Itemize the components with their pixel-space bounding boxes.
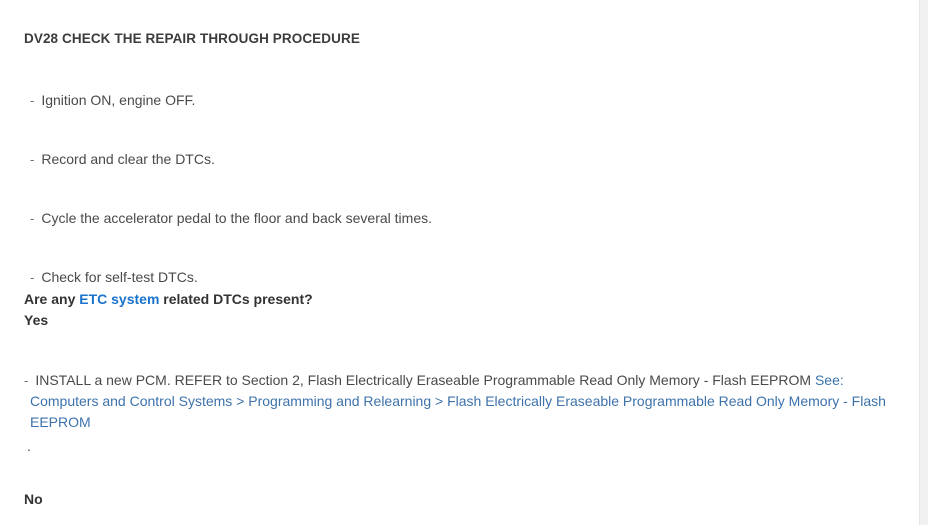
etc-system-link[interactable]: ETC system xyxy=(79,291,159,307)
question-prefix: Are any xyxy=(24,291,79,307)
list-item: -Cycle the accelerator pedal to the floo… xyxy=(24,209,895,228)
answer-label-yes: Yes xyxy=(24,311,895,330)
action-text: INSTALL a new PCM. REFER to Section 2, F… xyxy=(35,372,815,388)
scrollbar-track[interactable] xyxy=(920,0,928,525)
bullet-dash-icon: - xyxy=(30,152,41,167)
document-pane: DV28 CHECK THE REPAIR THROUGH PROCEDURE … xyxy=(0,0,920,525)
page-title: DV28 CHECK THE REPAIR THROUGH PROCEDURE xyxy=(24,0,895,48)
document-body: DV28 CHECK THE REPAIR THROUGH PROCEDURE … xyxy=(0,0,919,525)
list-item: -Ignition ON, engine OFF. xyxy=(24,91,895,110)
list-item: -Check for self-test DTCs. xyxy=(24,268,895,287)
bullet-dash-icon: - xyxy=(30,270,41,285)
decision-question: Are any ETC system related DTCs present? xyxy=(24,290,895,309)
step-text: Record and clear the DTCs. xyxy=(41,151,215,167)
step-text: Ignition ON, engine OFF. xyxy=(41,92,195,108)
bullet-dash-icon: - xyxy=(30,93,41,108)
answer-label-no: No xyxy=(24,490,895,509)
question-suffix: related DTCs present? xyxy=(159,291,312,307)
answer-action-yes: -INSTALL a new PCM. REFER to Section 2, … xyxy=(24,370,895,433)
bullet-dash-icon: - xyxy=(24,373,35,388)
trailing-period-yes: . xyxy=(24,439,895,453)
bullet-dash-icon: - xyxy=(30,211,41,226)
page-root: DV28 CHECK THE REPAIR THROUGH PROCEDURE … xyxy=(0,0,928,525)
list-item: -Record and clear the DTCs. xyxy=(24,150,895,169)
procedure-step-list: -Ignition ON, engine OFF. -Record and cl… xyxy=(24,91,895,287)
step-text: Cycle the accelerator pedal to the floor… xyxy=(41,210,432,226)
step-text: Check for self-test DTCs. xyxy=(41,269,197,285)
